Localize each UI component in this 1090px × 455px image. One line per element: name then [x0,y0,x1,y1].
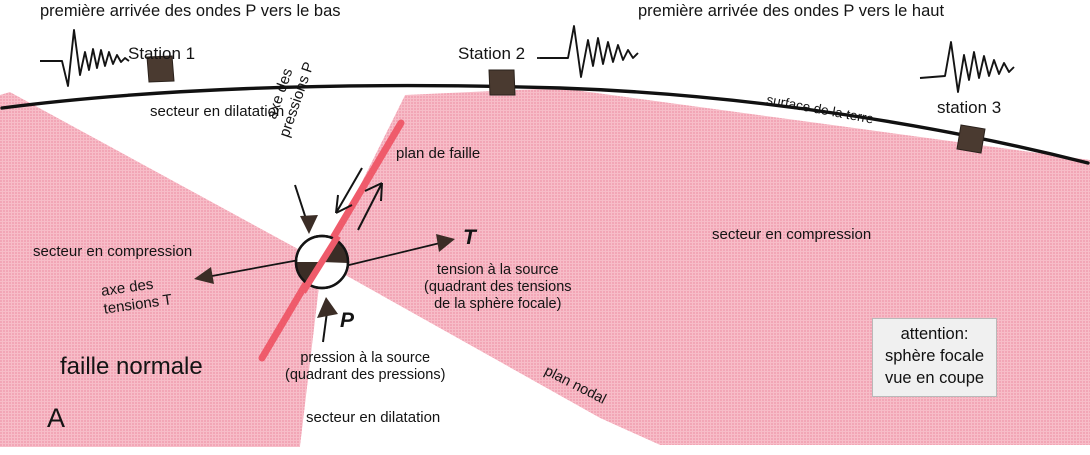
attention-line-2: sphère focale [885,346,984,368]
attention-line-3: vue en coupe [885,368,984,390]
p-symbol-label: P [340,309,354,334]
attention-box: attention: sphère focale vue en coupe [872,318,997,397]
tension-source-annotation: tension à la source (quadrant des tensio… [424,262,572,313]
header-left-label: première arrivée des ondes P vers le bas [40,2,341,21]
station-1-label: Station 1 [128,44,195,64]
header-right-label: première arrivée des ondes P vers le hau… [638,2,944,21]
station-3-label: station 3 [937,98,1001,118]
seismology-figure: première arrivée des ondes P vers le bas… [0,0,1090,455]
seismogram-trace-station-1 [40,30,129,86]
station-2-label: Station 2 [458,44,525,64]
sector-compression-right-label: secteur en compression [712,226,871,244]
station-marker-2 [489,70,515,95]
fault-plane-label: plan de faille [396,145,480,163]
sector-dilatation-bottom-label: secteur en dilatation [306,409,440,427]
pressure-source-annotation: pression à la source (quadrant des press… [285,350,445,384]
fault-type-label: faille normale [60,353,203,381]
seismogram-trace-station-2 [540,26,638,77]
station-marker-3 [957,125,985,153]
panel-label: A [47,403,65,435]
attention-line-1: attention: [885,324,984,346]
t-symbol-label: T [463,226,476,251]
seismogram-trace-station-3 [920,42,1014,92]
sector-compression-left-label: secteur en compression [33,243,192,261]
